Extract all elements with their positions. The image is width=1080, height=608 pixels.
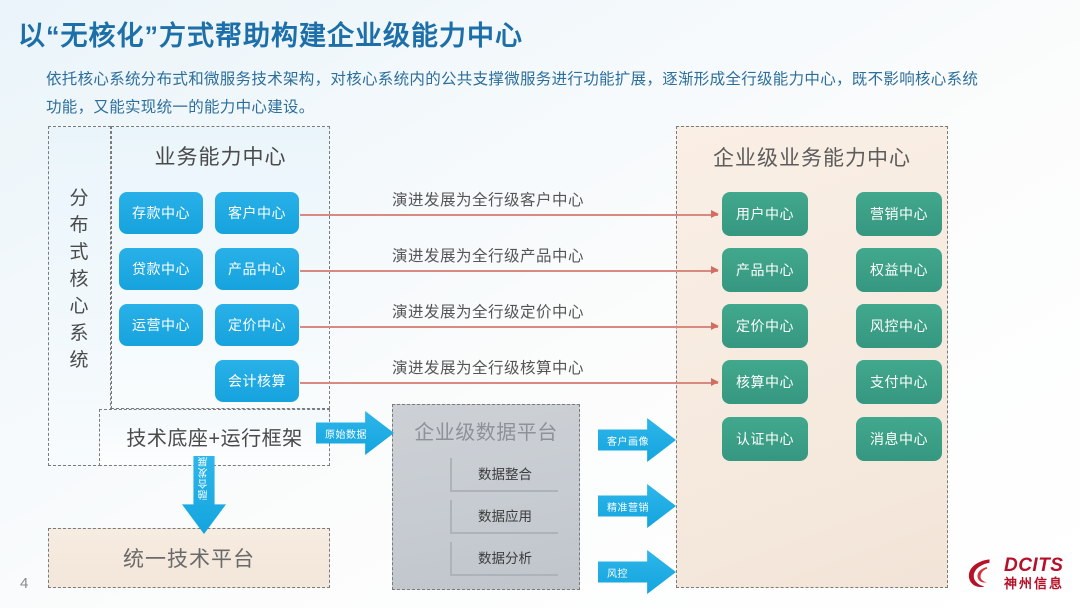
chip-message-center[interactable]: 消息中心 — [856, 417, 942, 461]
chip-auth-center[interactable]: 认证中心 — [722, 417, 808, 461]
unified-platform-label: 统一技术平台 — [48, 543, 330, 573]
chip-risk-center[interactable]: 风控中心 — [856, 304, 942, 348]
tech-foundation-label: 技术底座+运行框架 — [99, 422, 330, 451]
enterprise-panel-title: 企业级业务能力中心 — [676, 142, 948, 172]
block-arrow-fusion: 融合发展 — [182, 456, 226, 534]
page-title: 以“无核化”方式帮助构建企业级能力中心 — [18, 14, 523, 53]
block-arrow-precision-marketing-label: 精准营销 — [598, 499, 649, 514]
slide-canvas: 以“无核化”方式帮助构建企业级能力中心 依托核心系统分布式和微服务技术架构，对核… — [0, 0, 1080, 608]
business-panel-title: 业务能力中心 — [111, 141, 330, 171]
company-logo: DCITS 神州信息 — [964, 556, 1064, 590]
core-char: 系 — [48, 320, 111, 347]
block-arrow-risk-control: 风控 — [598, 550, 676, 594]
chip-ent-product-center[interactable]: 产品中心 — [722, 248, 808, 292]
core-system-label: 分 布 式 核 心 系 统 — [48, 185, 111, 374]
connector-label-pricing: 演进发展为全行级定价中心 — [392, 300, 584, 322]
chip-user-center[interactable]: 用户中心 — [722, 192, 808, 236]
connector-label-customer: 演进发展为全行级客户中心 — [392, 188, 584, 210]
core-char: 心 — [48, 293, 111, 320]
chip-accounting[interactable]: 会计核算 — [215, 360, 299, 402]
chip-pricing-center[interactable]: 定价中心 — [215, 304, 299, 346]
data-platform-item-integration[interactable]: 数据整合 — [450, 458, 558, 492]
connector-arrow-product — [300, 270, 718, 272]
chip-rights-center[interactable]: 权益中心 — [856, 248, 942, 292]
core-char: 核 — [48, 266, 111, 293]
block-arrow-risk-control-label: 风控 — [598, 565, 628, 580]
chip-loan-center[interactable]: 贷款中心 — [119, 248, 203, 290]
chip-deposit-center[interactable]: 存款中心 — [119, 192, 203, 234]
chip-operation-center[interactable]: 运营中心 — [119, 304, 203, 346]
logo-text-block: DCITS 神州信息 — [1004, 556, 1064, 590]
block-arrow-customer-profile: 客户画像 — [598, 418, 676, 462]
core-char: 式 — [48, 239, 111, 266]
data-platform-item-application[interactable]: 数据应用 — [450, 500, 558, 534]
chip-customer-center[interactable]: 客户中心 — [215, 192, 299, 234]
connector-label-product: 演进发展为全行级产品中心 — [392, 244, 584, 266]
page-subtitle: 依托核心系统分布式和微服务技术架构，对核心系统内的公共支撑微服务进行功能扩展，逐… — [46, 66, 986, 122]
block-arrow-fusion-label: 融合发展 — [197, 456, 212, 504]
block-arrow-raw-data-label: 原始数据 — [316, 426, 367, 441]
chip-marketing-center[interactable]: 营销中心 — [856, 192, 942, 236]
page-number: 4 — [20, 575, 28, 592]
block-arrow-customer-profile-label: 客户画像 — [598, 433, 649, 448]
connector-arrow-pricing — [300, 326, 718, 328]
connector-label-accounting: 演进发展为全行级核算中心 — [392, 356, 584, 378]
block-arrow-precision-marketing: 精准营销 — [598, 484, 676, 528]
chip-product-center[interactable]: 产品中心 — [215, 248, 299, 290]
chip-payment-center[interactable]: 支付中心 — [856, 360, 942, 404]
core-char: 统 — [48, 347, 111, 374]
core-char: 分 — [48, 185, 111, 212]
chip-ent-pricing-center[interactable]: 定价中心 — [722, 304, 808, 348]
connector-arrow-accounting — [300, 382, 718, 384]
connector-arrow-customer — [300, 214, 718, 216]
data-platform-item-analysis[interactable]: 数据分析 — [450, 542, 558, 576]
data-platform-title: 企业级数据平台 — [392, 416, 580, 445]
chip-accounting-center[interactable]: 核算中心 — [722, 360, 808, 404]
logo-en-text: DCITS — [1004, 556, 1064, 575]
core-char: 布 — [48, 212, 111, 239]
dcits-swoosh-icon — [964, 556, 998, 590]
logo-cn-text: 神州信息 — [1004, 577, 1064, 590]
